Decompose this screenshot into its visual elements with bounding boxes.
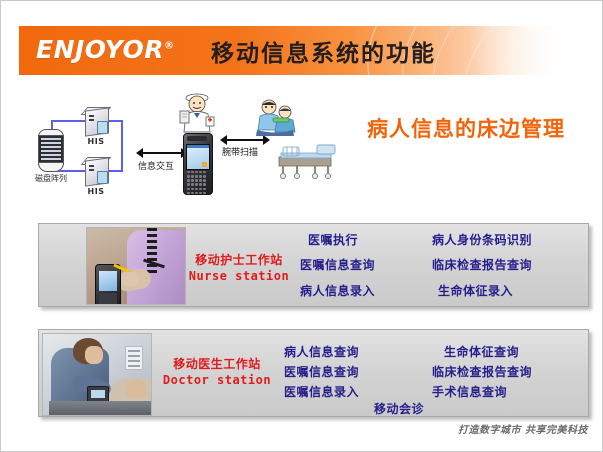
doctor-station-panel: 移动医生工作站 Doctor station 病人信息查询 医嘱信息查询 医嘱信… bbox=[38, 329, 589, 417]
his-server-top-label: HIS bbox=[66, 137, 126, 146]
doctor-station-photo bbox=[42, 333, 152, 416]
nurse-feature-item: 病人信息录入 bbox=[300, 282, 375, 299]
information-exchange-arrow-icon bbox=[136, 147, 188, 159]
handheld-pda-icon bbox=[183, 133, 211, 193]
doctor-feature-item: 移动会诊 bbox=[374, 400, 424, 417]
his-server-bottom-icon bbox=[79, 157, 113, 187]
his-server-bottom-label: HIS bbox=[66, 187, 126, 196]
doctor-station-title-en: Doctor station bbox=[154, 372, 280, 388]
patient-figure-icon bbox=[251, 98, 301, 138]
nurse-station-title-cn: 移动护士工作站 bbox=[179, 252, 299, 268]
nurse-station-photo bbox=[86, 227, 186, 305]
architecture-diagram: 磁盘阵列 HIS HIS 信息交互 bbox=[21, 93, 351, 211]
nurse-feature-item: 医嘱信息查询 bbox=[300, 256, 375, 273]
disk-array-icon bbox=[38, 129, 64, 175]
slide-canvas: ENJOYOR® 移动信息系统的功能 磁盘阵列 HIS HIS bbox=[0, 0, 603, 452]
nurse-station-title: 移动护士工作站 Nurse station bbox=[179, 252, 299, 284]
doctor-station-title: 移动医生工作站 Doctor station bbox=[154, 356, 280, 388]
doctor-feature-item: 临床检查报告查询 bbox=[432, 363, 532, 380]
doctor-feature-item: 手术信息查询 bbox=[432, 383, 507, 400]
his-server-top-icon bbox=[79, 107, 113, 137]
logo-wordmark: ENJOYOR bbox=[36, 35, 164, 64]
disk-array-label: 磁盘阵列 bbox=[19, 173, 83, 184]
doctor-figure-icon bbox=[174, 93, 220, 135]
wristband-scan-label: 腕带扫描 bbox=[222, 145, 258, 158]
doctor-station-title-cn: 移动医生工作站 bbox=[154, 356, 280, 372]
header-banner: ENJOYOR® 移动信息系统的功能 bbox=[19, 26, 589, 75]
hospital-bed-icon bbox=[273, 143, 341, 181]
doctor-feature-item: 生命体征查询 bbox=[444, 343, 519, 360]
doctor-feature-item: 医嘱信息录入 bbox=[284, 383, 359, 400]
information-exchange-label: 信息交互 bbox=[138, 159, 174, 172]
doctor-feature-item: 医嘱信息查询 bbox=[284, 363, 359, 380]
page-title: 移动信息系统的功能 bbox=[211, 34, 436, 68]
network-link bbox=[121, 120, 123, 172]
nurse-feature-item: 生命体征录入 bbox=[438, 282, 513, 299]
footer-slogan: 打造数字城市 共享完美科技 bbox=[458, 421, 588, 436]
nurse-feature-item: 病人身份条码识别 bbox=[432, 231, 532, 248]
section-headline: 病人信息的床边管理 bbox=[367, 113, 565, 143]
registered-mark-icon: ® bbox=[164, 41, 175, 52]
nurse-station-panel: 移动护士工作站 Nurse station 医嘱执行 医嘱信息查询 病人信息录入… bbox=[38, 223, 589, 307]
doctor-feature-item: 病人信息查询 bbox=[284, 343, 359, 360]
nurse-feature-item: 临床检查报告查询 bbox=[432, 256, 532, 273]
nurse-station-title-en: Nurse station bbox=[179, 268, 299, 284]
enjoyor-logo: ENJOYOR® bbox=[36, 35, 174, 64]
banner-fade-overlay bbox=[469, 26, 589, 75]
nurse-feature-item: 医嘱执行 bbox=[308, 231, 358, 248]
